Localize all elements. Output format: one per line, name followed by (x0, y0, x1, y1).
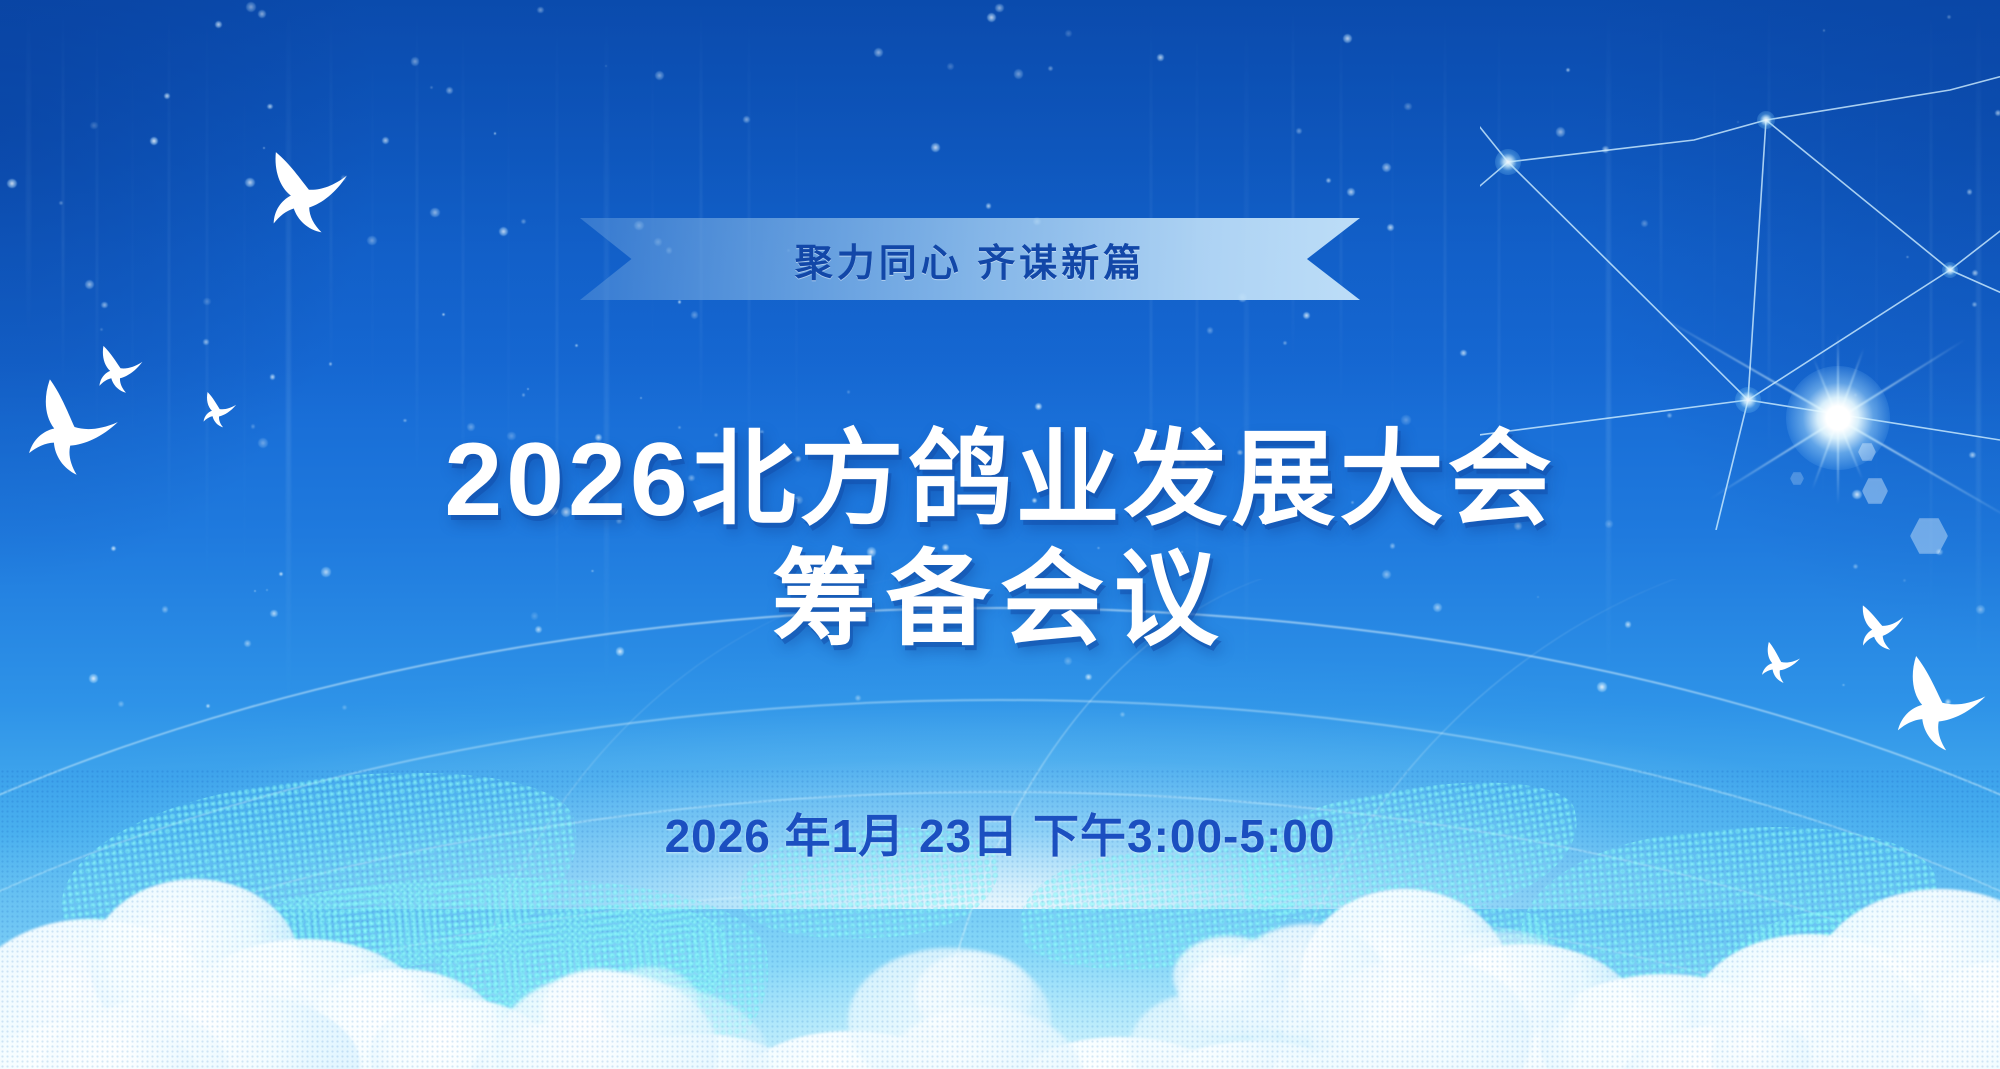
glow-particle (101, 302, 108, 309)
glow-particle (743, 116, 750, 123)
glow-particle (100, 328, 102, 330)
glow-particle (329, 362, 333, 366)
glow-particle (1157, 54, 1163, 60)
glow-particle (1065, 30, 1072, 37)
main-title-line-1: 2026北方鸽业发展大会 (0, 420, 2000, 540)
glow-particle (1296, 128, 1302, 134)
glow-particle (203, 339, 208, 344)
glow-particle (575, 344, 578, 347)
glow-particle (499, 227, 509, 237)
glow-particle (382, 137, 389, 144)
network-node (1942, 262, 1958, 278)
network-node (1735, 387, 1761, 413)
glow-particle (258, 10, 266, 18)
glow-particle (537, 7, 544, 14)
glow-particle (655, 71, 664, 80)
glow-particle (1347, 188, 1355, 196)
glow-particle (1382, 163, 1391, 172)
glow-particle (1035, 403, 1042, 410)
peace-dove-icon (1872, 644, 1998, 770)
glow-particle (847, 390, 850, 393)
glow-particle (430, 86, 433, 89)
glow-particle (527, 388, 529, 390)
poster-canvas: 聚力同心 齐谋新篇 2026北方鸽业发展大会 筹备会议 2026 年1月 23日… (0, 0, 2000, 1069)
glow-particle (1343, 34, 1352, 43)
glow-particle (90, 122, 98, 130)
glow-particle (931, 143, 940, 152)
title-block: 2026北方鸽业发展大会 筹备会议 (0, 420, 2000, 660)
glow-particle (1404, 103, 1412, 111)
glow-particle (442, 313, 445, 316)
glow-particle (1048, 66, 1053, 71)
glow-particle (1014, 69, 1024, 79)
glow-particle (1303, 312, 1310, 319)
peace-dove-icon (193, 387, 241, 435)
glow-particle (874, 48, 883, 57)
glow-particle (522, 393, 525, 396)
glow-particle (947, 63, 954, 70)
glow-particle (691, 311, 698, 318)
network-node (1757, 111, 1775, 129)
slogan-text: 聚力同心 齐谋新篇 (580, 218, 1360, 300)
peace-dove-icon (241, 133, 365, 257)
glow-particle (150, 137, 158, 145)
glow-particle (1207, 327, 1214, 334)
glow-particle (521, 219, 526, 224)
glow-particle (446, 87, 453, 94)
peace-dove-icon (84, 338, 150, 404)
glow-particle (1460, 350, 1466, 356)
glow-particle (1387, 224, 1394, 231)
glow-particle (640, 397, 642, 399)
glow-particle (267, 104, 273, 110)
glow-particle (215, 21, 222, 28)
glow-particle (367, 236, 376, 245)
glow-particle (1326, 178, 1331, 183)
glow-particle (164, 93, 171, 100)
glow-particle (678, 300, 682, 304)
glow-particle (85, 280, 94, 289)
network-node (1495, 149, 1521, 175)
peace-dove-icon (1751, 637, 1805, 691)
glow-particle (411, 57, 419, 65)
glow-particle (430, 208, 439, 217)
glow-particle (246, 2, 256, 12)
event-datetime: 2026 年1月 23日 下午3:00-5:00 (0, 800, 2000, 866)
main-title-line-2: 筹备会议 (0, 540, 2000, 660)
glow-particle (995, 4, 1004, 13)
glow-particle (1283, 341, 1287, 345)
glow-particle (7, 179, 17, 189)
glow-particle (59, 201, 63, 205)
glow-particle (987, 13, 996, 22)
glow-particle (494, 132, 497, 135)
glow-particle (986, 203, 992, 209)
glow-particle (203, 298, 210, 305)
glow-particle (270, 374, 275, 379)
glow-particle (605, 65, 607, 67)
